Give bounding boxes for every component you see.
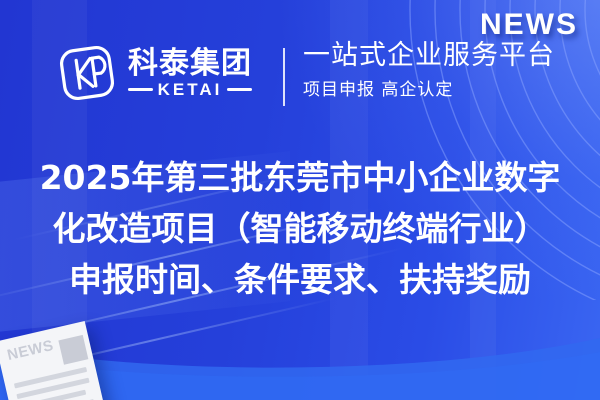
brand-name-en: KETAI: [158, 81, 223, 98]
banner-header: NEWS 科泰集团 KETAI: [0, 0, 600, 140]
dash-left-icon: [128, 88, 153, 91]
newspaper-masthead: NEWS: [6, 338, 55, 363]
page-title-line-3: 申报时间、条件要求、扶持奖励: [0, 254, 600, 305]
ketai-kp-monogram-icon: [56, 42, 118, 104]
slogan-sub: 项目申报 高企认定: [303, 75, 555, 100]
brand-name-en-row: KETAI: [128, 81, 252, 98]
slogan-block: 一站式企业服务平台 项目申报 高企认定: [303, 40, 555, 100]
page-title: 2025年第三批东莞市中小企业数字 化改造项目（智能移动终端行业） 申报时间、条…: [0, 152, 600, 305]
page-title-line-2: 化改造项目（智能移动终端行业）: [0, 203, 600, 254]
page-title-line-1: 2025年第三批东莞市中小企业数字: [0, 152, 600, 203]
brand-logo[interactable]: 科泰集团 KETAI: [56, 42, 252, 104]
news-banner: NEWS 科泰集团 KETAI: [0, 0, 600, 400]
vertical-divider-icon: [283, 48, 285, 106]
brand-name-cn: 科泰集团: [128, 49, 252, 79]
slogan-main: 一站式企业服务平台: [303, 40, 555, 71]
dash-right-icon: [227, 88, 252, 91]
newspaper-photo-block-icon: [58, 335, 88, 365]
news-wordmark: NEWS: [480, 8, 578, 42]
brand-wordmark: 科泰集团 KETAI: [128, 49, 252, 98]
